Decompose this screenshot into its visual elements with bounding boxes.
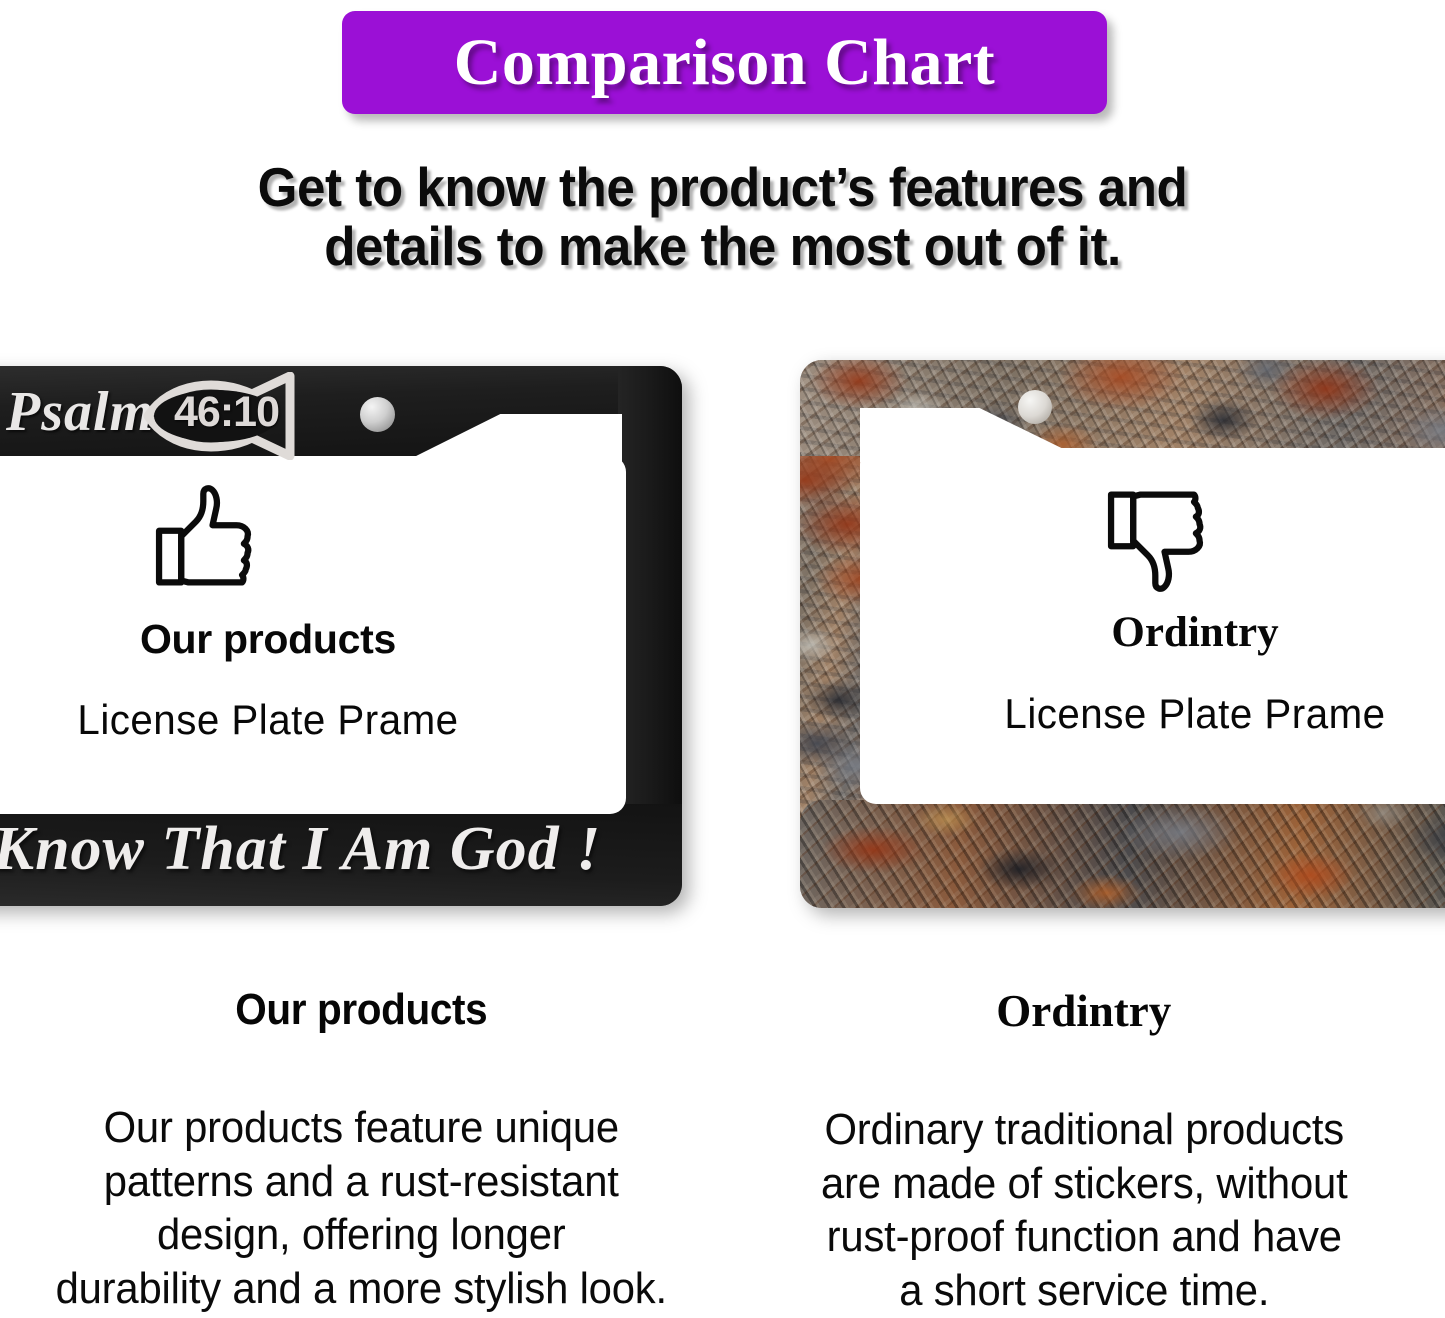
scripture-script-text: l Know That I Am God ! xyxy=(0,814,601,885)
psalm-word-text: Psalm xyxy=(6,380,154,444)
summary-line: Our products feature unique xyxy=(18,1101,704,1155)
our-product-summary-text: Our products feature unique patterns and… xyxy=(18,1101,704,1316)
summary-line: Ordinary traditional products xyxy=(741,1103,1427,1157)
thumbs-up-icon xyxy=(148,481,266,599)
ordinary-product-summary-column: Ordintry Ordinary traditional products a… xyxy=(723,985,1445,1318)
ordinary-product-license-plate-frame: Ordintry License Plate Prame xyxy=(800,360,1445,908)
summary-line: are made of stickers, without xyxy=(741,1157,1427,1211)
comparison-summary: Our products Our products feature unique… xyxy=(0,985,1445,1318)
mounting-hole-icon xyxy=(1018,390,1052,424)
our-product-summary-heading: Our products xyxy=(29,985,694,1035)
our-product-title: Our products xyxy=(0,616,618,663)
summary-line: a short service time. xyxy=(741,1264,1427,1318)
frame-bottom-rail xyxy=(800,800,1445,908)
summary-line: design, offering longer xyxy=(18,1208,704,1262)
thumbs-down-icon xyxy=(1100,478,1218,596)
bible-verse-text: 46:10 xyxy=(174,388,279,437)
our-product-subtitle: License Plate Prame xyxy=(0,696,604,744)
our-product-summary-column: Our products Our products feature unique… xyxy=(0,985,723,1318)
ordinary-product-summary-text: Ordinary traditional products are made o… xyxy=(741,1103,1427,1318)
our-product-license-plate-frame: Psalm 46:10 l Know That I Am God ! Our p… xyxy=(0,366,682,906)
summary-line: patterns and a rust-resistant xyxy=(18,1155,704,1209)
summary-line: durability and a more stylish look. xyxy=(18,1262,704,1316)
ordinary-product-summary-heading: Ordintry xyxy=(723,985,1445,1037)
ordinary-product-title: Ordintry xyxy=(860,608,1445,657)
ordinary-product-subtitle: License Plate Prame xyxy=(873,690,1445,738)
summary-line: rust-proof function and have xyxy=(741,1210,1427,1264)
